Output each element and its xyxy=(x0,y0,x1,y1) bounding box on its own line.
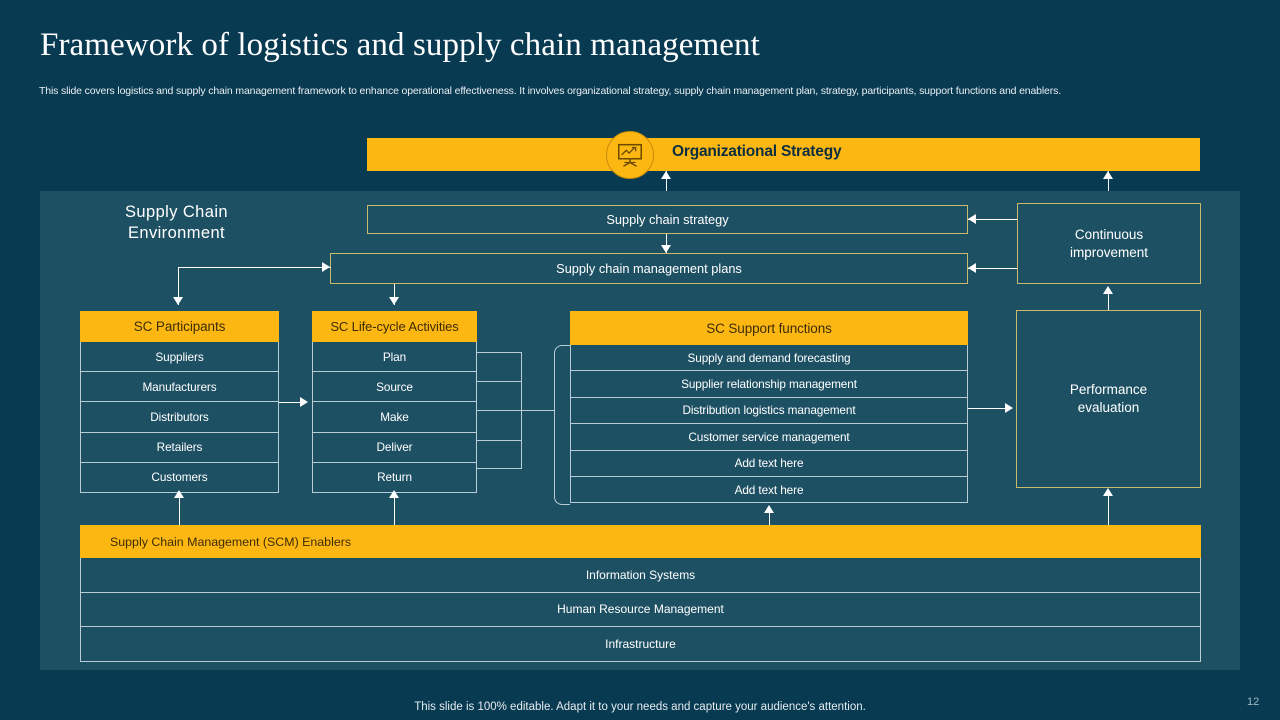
sc-participants-row[interactable]: Retailers xyxy=(80,433,279,463)
connector-comb-to-brace xyxy=(522,410,554,411)
arrowhead-up xyxy=(174,490,184,498)
footer-note: This slide is 100% editable. Adapt it to… xyxy=(0,701,1280,713)
arrowhead-right xyxy=(1005,403,1013,413)
sce-title-line2: Environment xyxy=(104,223,249,244)
lifecycle-comb-tick xyxy=(477,440,522,441)
sc-support-row[interactable]: Customer service management xyxy=(570,424,968,450)
sc-participants-row[interactable]: Distributors xyxy=(80,402,279,432)
scm-enablers-header: Supply Chain Management (SCM) Enablers xyxy=(80,525,1201,558)
arrowhead-up xyxy=(1103,488,1113,496)
arrowhead-down xyxy=(173,297,183,305)
sc-support-functions-column: SC Support functions Supply and demand f… xyxy=(570,311,968,503)
sc-support-row[interactable]: Add text here xyxy=(570,451,968,477)
sc-support-row[interactable]: Distribution logistics management xyxy=(570,398,968,424)
arrowhead-up xyxy=(661,171,671,179)
arrowhead-left xyxy=(968,263,976,273)
lifecycle-comb-tick xyxy=(477,410,522,411)
sc-lifecycle-row[interactable]: Plan xyxy=(312,342,477,372)
page-subtitle: This slide covers logistics and supply c… xyxy=(39,85,1259,97)
support-brace-lower xyxy=(554,410,570,505)
sc-lifecycle-row[interactable]: Return xyxy=(312,463,477,493)
sc-lifecycle-activities-column: SC Life-cycle Activities Plan Source Mak… xyxy=(312,311,477,493)
organizational-strategy-label: Organizational Strategy xyxy=(672,143,841,161)
sc-lifecycle-header: SC Life-cycle Activities xyxy=(312,311,477,342)
presentation-board-glyph xyxy=(615,140,645,170)
performance-evaluation-line2: evaluation xyxy=(1070,399,1147,417)
sc-lifecycle-row[interactable]: Deliver xyxy=(312,433,477,463)
arrowhead-up xyxy=(1103,171,1113,179)
supply-chain-environment-title: Supply Chain Environment xyxy=(104,202,249,244)
performance-evaluation-line1: Performance xyxy=(1070,381,1147,399)
sc-lifecycle-row[interactable]: Source xyxy=(312,372,477,402)
arrowhead-up xyxy=(1103,286,1113,294)
arrowhead-right xyxy=(322,262,330,272)
support-brace-upper xyxy=(554,345,570,410)
scm-enablers-table: Supply Chain Management (SCM) Enablers I… xyxy=(80,525,1201,662)
sc-participants-header: SC Participants xyxy=(80,311,279,342)
continuous-improvement-box[interactable]: Continuous improvement xyxy=(1017,203,1201,284)
sc-participants-row[interactable]: Customers xyxy=(80,463,279,493)
sc-participants-row[interactable]: Manufacturers xyxy=(80,372,279,402)
page-title: Framework of logistics and supply chain … xyxy=(40,27,760,64)
presentation-board-icon xyxy=(606,131,654,179)
scm-enablers-row[interactable]: Infrastructure xyxy=(80,627,1201,662)
scm-enablers-row[interactable]: Information Systems xyxy=(80,558,1201,593)
sce-title-line1: Supply Chain xyxy=(104,202,249,223)
arrowhead-left xyxy=(968,214,976,224)
arrowhead-down xyxy=(389,297,399,305)
continuous-improvement-line1: Continuous xyxy=(1070,226,1148,244)
page-number: 12 xyxy=(1247,696,1259,708)
lifecycle-comb-tick xyxy=(477,381,522,382)
sc-support-header: SC Support functions xyxy=(570,311,968,345)
performance-evaluation-box[interactable]: Performance evaluation xyxy=(1016,310,1201,488)
sc-participants-column: SC Participants Suppliers Manufacturers … xyxy=(80,311,279,493)
arrowhead-up xyxy=(389,490,399,498)
slide-canvas: Framework of logistics and supply chain … xyxy=(0,0,1280,720)
sc-support-row[interactable]: Add text here xyxy=(570,477,968,503)
continuous-improvement-line2: improvement xyxy=(1070,244,1148,262)
supply-chain-management-plans-box[interactable]: Supply chain management plans xyxy=(330,253,968,284)
scm-enablers-row[interactable]: Human Resource Management xyxy=(80,593,1201,628)
sc-participants-row[interactable]: Suppliers xyxy=(80,342,279,372)
sc-lifecycle-row[interactable]: Make xyxy=(312,402,477,432)
connector-plans-to-participants-h xyxy=(178,267,331,268)
sc-support-row[interactable]: Supply and demand forecasting xyxy=(570,345,968,371)
supply-chain-strategy-box[interactable]: Supply chain strategy xyxy=(367,205,968,234)
arrowhead-down xyxy=(661,245,671,253)
sc-support-row[interactable]: Supplier relationship management xyxy=(570,371,968,397)
arrowhead-up xyxy=(764,505,774,513)
arrowhead-right xyxy=(300,397,308,407)
